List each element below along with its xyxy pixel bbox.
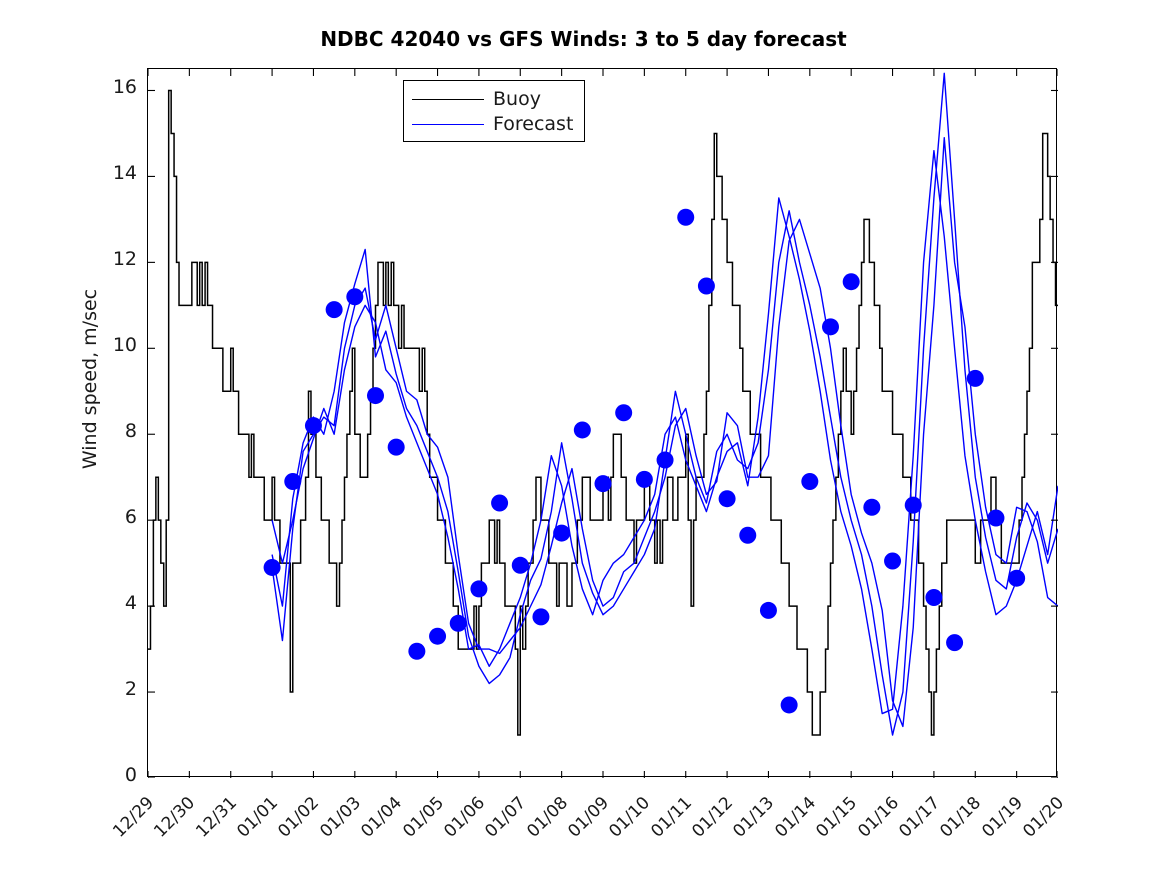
forecast-marker bbox=[905, 497, 922, 514]
forecast-marker bbox=[657, 452, 674, 469]
legend-swatch-buoy bbox=[412, 99, 484, 100]
forecast-marker bbox=[429, 628, 446, 645]
forecast-line bbox=[272, 151, 1058, 714]
forecast-marker bbox=[946, 634, 963, 651]
forecast-marker bbox=[863, 499, 880, 516]
y-tick-label: 0 bbox=[97, 764, 137, 786]
forecast-marker bbox=[698, 278, 715, 295]
buoy-line bbox=[148, 90, 1058, 735]
forecast-marker bbox=[491, 494, 508, 511]
x-axis-tick-labels: 12/2912/3012/3101/0101/0201/0301/0401/05… bbox=[147, 782, 1057, 872]
forecast-marker bbox=[346, 288, 363, 305]
forecast-marker bbox=[1008, 570, 1025, 587]
y-tick-label: 2 bbox=[97, 678, 137, 700]
forecast-marker bbox=[408, 643, 425, 660]
forecast-marker bbox=[574, 421, 591, 438]
legend-item-buoy: Buoy bbox=[412, 87, 576, 112]
forecast-marker bbox=[822, 318, 839, 335]
forecast-marker bbox=[532, 608, 549, 625]
y-tick-label: 14 bbox=[97, 162, 137, 184]
y-tick-label: 12 bbox=[97, 248, 137, 270]
forecast-marker bbox=[760, 602, 777, 619]
forecast-marker bbox=[987, 510, 1004, 527]
forecast-marker bbox=[636, 471, 653, 488]
forecast-marker bbox=[739, 527, 756, 544]
legend-swatch-forecast bbox=[412, 124, 484, 125]
chart-title: NDBC 42040 vs GFS Winds: 3 to 5 day fore… bbox=[0, 27, 1167, 51]
forecast-marker bbox=[595, 475, 612, 492]
forecast-marker bbox=[326, 301, 343, 318]
forecast-marker bbox=[781, 696, 798, 713]
forecast-marker bbox=[884, 553, 901, 570]
forecast-marker bbox=[925, 589, 942, 606]
forecast-marker bbox=[284, 473, 301, 490]
y-axis-tick-labels: 0246810121416 bbox=[95, 68, 137, 777]
forecast-marker bbox=[967, 370, 984, 387]
legend-label-buoy: Buoy bbox=[493, 90, 541, 109]
forecast-marker bbox=[677, 209, 694, 226]
forecast-marker bbox=[305, 417, 322, 434]
y-tick-label: 8 bbox=[97, 420, 137, 442]
forecast-marker bbox=[470, 580, 487, 597]
legend: Buoy Forecast bbox=[403, 80, 585, 142]
forecast-marker bbox=[388, 439, 405, 456]
figure-canvas: NDBC 42040 vs GFS Winds: 3 to 5 day fore… bbox=[0, 0, 1167, 875]
y-tick-label: 6 bbox=[97, 506, 137, 528]
forecast-marker bbox=[553, 525, 570, 542]
forecast-marker bbox=[719, 490, 736, 507]
y-tick-label: 16 bbox=[97, 76, 137, 98]
y-tick-label: 4 bbox=[97, 592, 137, 614]
y-tick-label: 10 bbox=[97, 334, 137, 356]
forecast-marker bbox=[801, 473, 818, 490]
legend-item-forecast: Forecast bbox=[412, 112, 576, 137]
forecast-marker bbox=[264, 559, 281, 576]
legend-label-forecast: Forecast bbox=[493, 115, 573, 134]
forecast-line bbox=[272, 138, 1058, 727]
forecast-marker bbox=[512, 557, 529, 574]
forecast-marker bbox=[615, 404, 632, 421]
plot-area bbox=[147, 68, 1057, 777]
forecast-marker bbox=[843, 273, 860, 290]
forecast-line bbox=[272, 73, 1058, 735]
plot-svg bbox=[148, 69, 1058, 778]
forecast-marker bbox=[367, 387, 384, 404]
forecast-marker bbox=[450, 615, 467, 632]
